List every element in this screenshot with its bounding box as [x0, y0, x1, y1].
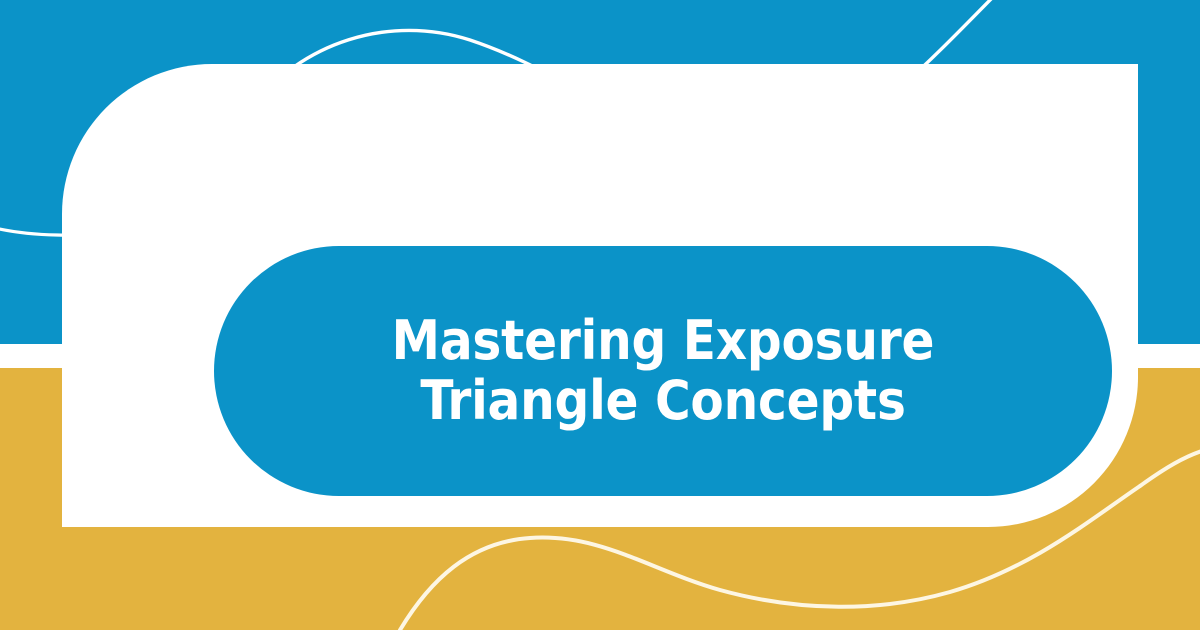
page-title: Mastering Exposure Triangle Concepts — [288, 311, 1038, 432]
poster-canvas: Mastering Exposure Triangle Concepts — [0, 0, 1200, 630]
content-card: Mastering Exposure Triangle Concepts — [62, 64, 1138, 527]
title-pill: Mastering Exposure Triangle Concepts — [214, 246, 1112, 496]
